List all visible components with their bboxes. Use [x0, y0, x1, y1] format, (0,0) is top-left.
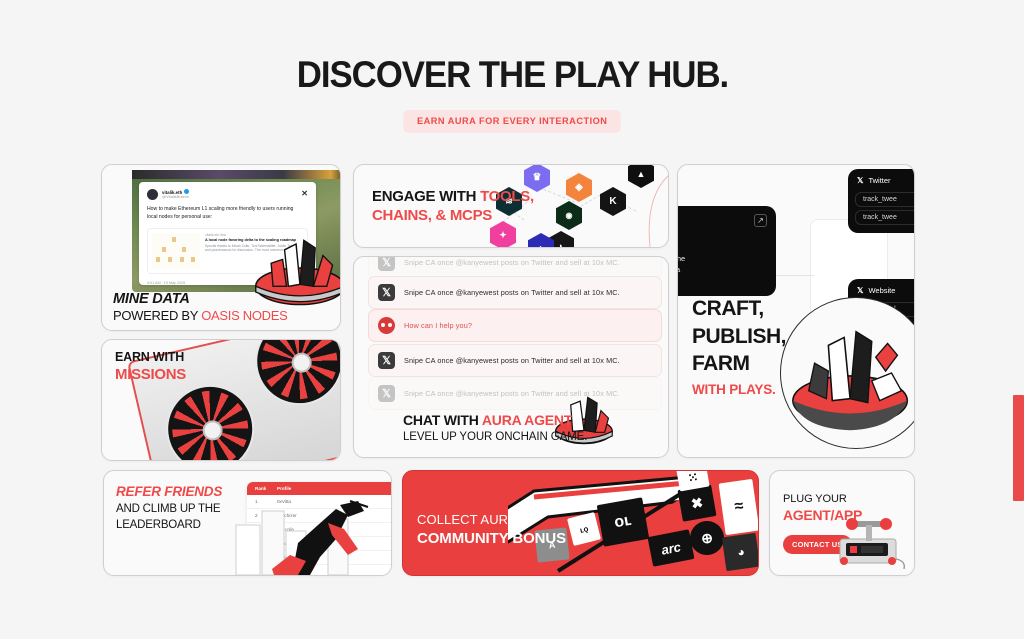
ol-icon: oʟ: [597, 497, 650, 546]
close-icon[interactable]: ✕: [301, 189, 308, 198]
leaderboard-col-rank: Rank: [255, 486, 277, 491]
collect-caption-line2: COMMUNITY BONUS: [417, 530, 566, 547]
plug-caption-line1: PLUG YOUR: [783, 493, 862, 505]
mine-caption-accent: OASIS NODES: [201, 308, 287, 323]
flow-line: [774, 275, 814, 276]
avatar: [147, 189, 158, 200]
mine-caption: MINE DATA POWERED BY OASIS NODES: [113, 291, 287, 323]
engage-caption-line2: CHAINS, & MCPS: [372, 206, 534, 225]
craft-geode-illustration: [780, 297, 915, 449]
chat-message-agent[interactable]: How can I help you?: [368, 309, 662, 342]
leaderboard-col-profile: Profile: [277, 486, 388, 491]
refer-caption-line1: REFER FRIENDS: [116, 484, 234, 499]
craft-caption-line4: WITH PLAYS.: [692, 382, 786, 397]
tool-panel-title: 𝕏 Twitter: [848, 169, 915, 189]
tool-title-text: Website: [868, 286, 895, 295]
mine-caption-line2: POWERED BY OASIS NODES: [113, 308, 287, 323]
engage-line1-accent: TOOLS,: [480, 188, 534, 205]
chat-line1-plain: CHAT WITH: [403, 412, 482, 428]
missions-caption: EARN WITH MISSIONS: [115, 350, 186, 383]
engage-caption: ENGAGE WITH TOOLS, CHAINS, & MCPS: [372, 187, 534, 225]
collect-caption-line1: COLLECT AURA W: [417, 512, 566, 527]
craft-caption-line3: FARM: [692, 350, 786, 378]
chat-caption-line2: LEVEL UP YOUR ONCHAIN GAME.: [403, 431, 587, 443]
chat-line1-accent: AURA AGENT: [482, 412, 572, 428]
face-icon: ◕: [722, 533, 758, 571]
card-chat-with-aura-agent[interactable]: 𝕏 Snipe CA once @kanyewest posts on Twit…: [353, 256, 669, 458]
chat-caption-line1: CHAT WITH AURA AGENT: [403, 412, 587, 428]
card-collect-aura[interactable]: A ʟǫ oʟ arc ⊕ ✖ ⁙ ≈ ◕ COLLECT AURA W COM…: [402, 470, 759, 576]
tool-panel-title: 𝕏 Website: [848, 279, 915, 299]
x-twitter-icon: 𝕏: [857, 176, 863, 185]
mine-caption-line1: MINE DATA: [113, 291, 287, 307]
chat-message-text: Snipe CA once @kanyewest posts on Twitte…: [404, 258, 620, 267]
tool-panel-twitter[interactable]: 𝕏 Twitter track_twee track_twee: [848, 169, 915, 233]
badge-wrap: EARN AURA FOR EVERY INTERACTION: [0, 110, 1024, 133]
refer-caption: REFER FRIENDS AND CLIMB UP THE LEADERBOA…: [116, 484, 234, 533]
play-hub-page: DISCOVER THE PLAY HUB. EARN AURA FOR EVE…: [0, 0, 1024, 639]
bnb-icon: ◈: [566, 173, 592, 202]
tool-item[interactable]: track_twee: [855, 192, 915, 207]
page-title: DISCOVER THE PLAY HUB.: [296, 54, 727, 96]
card-refer-friends[interactable]: Rank Profile Aura P 1 0xVitta 486 2 melc…: [103, 470, 392, 576]
chat-message-text: How can I help you?: [404, 321, 472, 330]
city-climb-illustration: [232, 499, 392, 575]
x-twitter-icon: 𝕏: [378, 352, 395, 369]
wave-icon: ≈: [719, 479, 758, 535]
card-craft-publish-farm[interactable]: ↗ . and snipe the are a CA or a 𝕏 Twitte…: [677, 164, 915, 458]
page-header: DISCOVER THE PLAY HUB. EARN AURA FOR EVE…: [0, 54, 1024, 133]
quote-thumbnail: [152, 233, 200, 269]
chat-message-text: Snipe CA once @kanyewest posts on Twitte…: [404, 356, 620, 365]
x-twitter-icon: 𝕏: [378, 385, 395, 402]
card-earn-with-missions[interactable]: EARN WITH MISSIONS: [101, 339, 341, 461]
collect-caption: COLLECT AURA W COMMUNITY BONUS: [417, 512, 566, 547]
chat-message-ghost-bottom: 𝕏 Snipe CA once @kanyewest posts on Twit…: [368, 377, 662, 410]
engage-line1-plain: ENGAGE WITH: [372, 188, 480, 205]
tweet-handle: @VitalikButerin: [162, 195, 189, 200]
external-link-icon[interactable]: ↗: [754, 214, 767, 227]
aura-agent-icon: [378, 317, 395, 334]
refer-caption-line2: AND CLIMB UP THE LEADERBOARD: [116, 502, 234, 533]
chat-message-user-1[interactable]: 𝕏 Snipe CA once @kanyewest posts on Twit…: [368, 276, 662, 309]
vertical-scrollbar[interactable]: [1013, 395, 1024, 501]
chat-message-user-2[interactable]: 𝕏 Snipe CA once @kanyewest posts on Twit…: [368, 344, 662, 377]
engage-caption-line1: ENGAGE WITH TOOLS,: [372, 187, 534, 206]
craft-caption-line2: PUBLISH,: [692, 323, 786, 351]
prompt-text-line2: are a CA or a: [677, 264, 685, 275]
tweet-header: vitalik.eth @VitalikButerin: [147, 189, 308, 200]
card-engage-with-tools[interactable]: ♛ ≋ ✦ ◈ ◉ ◗ K ▲ ◐ ENGAGE WITH TOOLS, CHA…: [353, 164, 669, 248]
leaderboard-col-aura: Aura P: [388, 486, 392, 491]
prompt-text-line1: . and snipe the: [677, 253, 685, 264]
missions-caption-line2: MISSIONS: [115, 366, 186, 383]
mine-caption-plain: POWERED BY: [113, 308, 201, 323]
x-twitter-icon: 𝕏: [857, 286, 863, 295]
plug-caption: PLUG YOUR AGENT/APP: [783, 493, 862, 523]
earn-aura-badge: EARN AURA FOR EVERY INTERACTION: [403, 110, 621, 133]
card-plug-agent-app[interactable]: PLUG YOUR AGENT/APP CONTACT US: [769, 470, 915, 576]
missions-caption-line1: EARN WITH: [115, 350, 186, 364]
tweet-body: How to make Ethereum L1 scaling more fri…: [147, 206, 299, 222]
plug-caption-line2: AGENT/APP: [783, 507, 862, 523]
x-twitter-icon: 𝕏: [378, 284, 395, 301]
leaderboard-header-row: Rank Profile Aura P: [247, 482, 392, 495]
pyth-icon: ◉: [556, 201, 582, 230]
chat-caption: CHAT WITH AURA AGENT LEVEL UP YOUR ONCHA…: [403, 412, 587, 443]
forum-icon: ◐: [528, 233, 554, 248]
tool-item[interactable]: track_twee: [855, 210, 915, 225]
x-twitter-icon: 𝕏: [378, 256, 395, 271]
tool-title-text: Twitter: [868, 176, 890, 185]
chat-message-text: Snipe CA once @kanyewest posts on Twitte…: [404, 288, 620, 297]
craft-caption-line1: CRAFT,: [692, 295, 786, 323]
prompt-panel[interactable]: ↗ . and snipe the are a CA or a: [677, 206, 776, 296]
card-mine-data[interactable]: ✕ vitalik.eth @VitalikButerin How to mak…: [101, 164, 341, 331]
craft-caption: CRAFT, PUBLISH, FARM WITH PLAYS.: [692, 295, 786, 397]
